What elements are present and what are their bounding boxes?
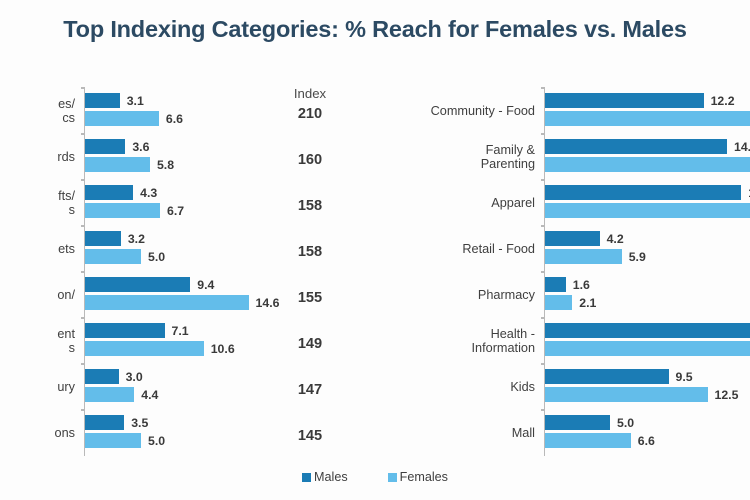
bar-female bbox=[85, 295, 249, 310]
category-label: es/ cs bbox=[0, 97, 84, 125]
chart-row: ent s7.110.6 bbox=[0, 318, 248, 364]
chart-row: Mall5.06.6 bbox=[382, 410, 750, 456]
bar-value-male: 1.6 bbox=[573, 278, 590, 292]
category-label: Mall bbox=[382, 426, 544, 440]
bar-female bbox=[545, 249, 622, 264]
index-value: 158 bbox=[268, 244, 352, 260]
bar-female bbox=[545, 433, 631, 448]
category-label: rds bbox=[0, 150, 84, 164]
bar-group-male: 9.4 bbox=[85, 277, 214, 292]
bar-male bbox=[545, 139, 727, 154]
bar-value-male: 9.4 bbox=[197, 278, 214, 292]
bar-group-male: 5.0 bbox=[545, 415, 634, 430]
axis-tick bbox=[81, 363, 85, 365]
bar-group-male: 9.5 bbox=[545, 369, 693, 384]
index-value: 145 bbox=[268, 428, 352, 444]
row-plot-area: 3.25.0 bbox=[84, 226, 248, 272]
bar-value-male: 3.5 bbox=[131, 416, 148, 430]
axis-tick bbox=[81, 87, 85, 89]
row-plot-area: 12.217.7 bbox=[544, 88, 750, 134]
bar-group-female: 2 bbox=[545, 157, 750, 172]
legend-item-males: Males bbox=[302, 470, 348, 484]
category-label: Pharmacy bbox=[382, 288, 544, 302]
bar-female bbox=[85, 433, 141, 448]
bar-value-female: 5.9 bbox=[629, 250, 646, 264]
bar-value-female: 5.8 bbox=[157, 158, 174, 172]
row-plot-area: 3.55.0 bbox=[84, 410, 248, 456]
bar-female bbox=[85, 111, 159, 126]
bar-male bbox=[545, 369, 669, 384]
bar-group-male: 4.2 bbox=[545, 231, 624, 246]
index-column: Index 210160158158155149147145 bbox=[268, 88, 352, 456]
bar-value-female: 5.0 bbox=[148, 434, 165, 448]
row-plot-area: 4.25.9 bbox=[544, 226, 750, 272]
axis-tick bbox=[541, 409, 545, 411]
bar-group-female: 5.0 bbox=[85, 433, 165, 448]
bar-group-male: 3.1 bbox=[85, 93, 144, 108]
bar-male bbox=[85, 93, 120, 108]
row-plot-area: 14.02 bbox=[544, 134, 750, 180]
axis-tick bbox=[541, 363, 545, 365]
category-label: ury bbox=[0, 380, 84, 394]
bar-group-female: 17.7 bbox=[545, 111, 750, 126]
axis-tick bbox=[81, 271, 85, 273]
row-plot-area: 3.65.8 bbox=[84, 134, 248, 180]
category-label: Health - Information bbox=[382, 327, 544, 355]
chart-row: Pharmacy1.62.1 bbox=[382, 272, 750, 318]
bar-male bbox=[85, 369, 119, 384]
bar-female bbox=[545, 387, 708, 402]
bar-value-male: 3.6 bbox=[132, 140, 149, 154]
chart-row: es/ cs3.16.6 bbox=[0, 88, 248, 134]
bar-female bbox=[545, 157, 750, 172]
legend-swatch-females bbox=[388, 473, 397, 482]
category-label: Family & Parenting bbox=[382, 143, 544, 171]
bar-female bbox=[85, 203, 160, 218]
row-plot-area: 4.36.7 bbox=[84, 180, 248, 226]
bar-value-male: 5.0 bbox=[617, 416, 634, 430]
axis-tick bbox=[541, 87, 545, 89]
category-label: fts/ s bbox=[0, 189, 84, 217]
legend-item-females: Females bbox=[388, 470, 448, 484]
bar-female bbox=[85, 387, 134, 402]
bar-male bbox=[85, 415, 124, 430]
row-plot-area: 5.06.6 bbox=[544, 410, 750, 456]
chart-row: Apparel15.1 bbox=[382, 180, 750, 226]
category-label: on/ bbox=[0, 288, 84, 302]
bar-group-female bbox=[545, 203, 750, 218]
category-label: Community - Food bbox=[382, 104, 544, 118]
bar-group-female: 4.4 bbox=[85, 387, 158, 402]
bar-value-female: 2.1 bbox=[579, 296, 596, 310]
bar-male bbox=[545, 231, 600, 246]
bar-male bbox=[545, 415, 610, 430]
row-plot-area: 3.04.4 bbox=[84, 364, 248, 410]
bar-female bbox=[85, 249, 141, 264]
chart-row: ets3.25.0 bbox=[0, 226, 248, 272]
bar-male bbox=[85, 323, 165, 338]
bar-value-male: 7.1 bbox=[172, 324, 189, 338]
axis-tick bbox=[541, 225, 545, 227]
axis-tick bbox=[81, 225, 85, 227]
bar-value-male: 12.2 bbox=[711, 94, 735, 108]
axis-tick bbox=[541, 271, 545, 273]
bar-group-male: 3.2 bbox=[85, 231, 145, 246]
bar-group-male: 14.0 bbox=[545, 139, 750, 154]
legend-label-females: Females bbox=[400, 470, 448, 484]
category-label: ent s bbox=[0, 327, 84, 355]
bar-group-male: 12.2 bbox=[545, 93, 735, 108]
chart-row: Community - Food12.217.7 bbox=[382, 88, 750, 134]
axis-tick bbox=[81, 179, 85, 181]
bar-value-male: 9.5 bbox=[676, 370, 693, 384]
bar-group-female bbox=[545, 341, 750, 356]
bar-female bbox=[545, 111, 750, 126]
bar-female bbox=[85, 157, 150, 172]
axis-tick bbox=[541, 317, 545, 319]
bar-group-female: 6.7 bbox=[85, 203, 184, 218]
chart-row: rds3.65.8 bbox=[0, 134, 248, 180]
bar-value-female: 5.0 bbox=[148, 250, 165, 264]
bar-value-male: 3.0 bbox=[126, 370, 143, 384]
bar-female bbox=[545, 341, 750, 356]
chart-row: fts/ s4.36.7 bbox=[0, 180, 248, 226]
index-value: 210 bbox=[268, 106, 352, 122]
row-plot-area: 17.4 bbox=[544, 318, 750, 364]
bar-female bbox=[85, 341, 204, 356]
category-label: Kids bbox=[382, 380, 544, 394]
left-chart-panel: es/ cs3.16.6rds3.65.8fts/ s4.36.7ets3.25… bbox=[0, 88, 248, 456]
bar-group-male: 3.5 bbox=[85, 415, 148, 430]
bar-value-female: 6.6 bbox=[638, 434, 655, 448]
bar-value-female: 6.6 bbox=[166, 112, 183, 126]
chart-row: ons3.55.0 bbox=[0, 410, 248, 456]
bar-value-male: 14.0 bbox=[734, 140, 750, 154]
bar-value-female: 4.4 bbox=[141, 388, 158, 402]
index-value: 149 bbox=[268, 336, 352, 352]
index-value: 147 bbox=[268, 382, 352, 398]
bar-male bbox=[545, 277, 566, 292]
bar-male bbox=[85, 139, 125, 154]
legend-swatch-males bbox=[302, 473, 311, 482]
axis-tick bbox=[541, 179, 545, 181]
bar-group-female: 6.6 bbox=[545, 433, 655, 448]
bar-value-female: 12.5 bbox=[715, 388, 739, 402]
bar-group-male: 7.1 bbox=[85, 323, 189, 338]
category-label: Retail - Food bbox=[382, 242, 544, 256]
bar-group-female: 12.5 bbox=[545, 387, 738, 402]
row-plot-area: 3.16.6 bbox=[84, 88, 248, 134]
right-chart-panel: Community - Food12.217.7Family & Parenti… bbox=[382, 88, 750, 456]
axis-tick bbox=[81, 133, 85, 135]
bar-group-female: 2.1 bbox=[545, 295, 596, 310]
bar-value-male: 4.2 bbox=[607, 232, 624, 246]
row-plot-area: 9.414.6 bbox=[84, 272, 248, 318]
index-value: 155 bbox=[268, 290, 352, 306]
bar-male bbox=[85, 231, 121, 246]
bar-value-male: 3.2 bbox=[128, 232, 145, 246]
bar-group-male: 4.3 bbox=[85, 185, 157, 200]
bar-group-female: 5.8 bbox=[85, 157, 174, 172]
left-chart-rows: es/ cs3.16.6rds3.65.8fts/ s4.36.7ets3.25… bbox=[0, 88, 248, 456]
bar-group-female: 6.6 bbox=[85, 111, 183, 126]
axis-tick bbox=[81, 317, 85, 319]
row-plot-area: 7.110.6 bbox=[84, 318, 248, 364]
bar-male bbox=[85, 277, 190, 292]
bar-value-female: 6.7 bbox=[167, 204, 184, 218]
bar-group-male: 3.0 bbox=[85, 369, 143, 384]
bar-value-male: 3.1 bbox=[127, 94, 144, 108]
legend-label-males: Males bbox=[314, 470, 348, 484]
bar-group-female: 5.9 bbox=[545, 249, 646, 264]
row-plot-area: 1.62.1 bbox=[544, 272, 750, 318]
chart-legend: Males Females bbox=[0, 470, 750, 484]
axis-tick bbox=[81, 409, 85, 411]
axis-tick bbox=[541, 133, 545, 135]
chart-row: Retail - Food4.25.9 bbox=[382, 226, 750, 272]
bar-female bbox=[545, 295, 572, 310]
bar-value-female: 10.6 bbox=[211, 342, 235, 356]
bar-group-male: 3.6 bbox=[85, 139, 149, 154]
bar-group-female: 10.6 bbox=[85, 341, 235, 356]
chart-row: Kids9.512.5 bbox=[382, 364, 750, 410]
row-plot-area: 15.1 bbox=[544, 180, 750, 226]
right-chart-rows: Community - Food12.217.7Family & Parenti… bbox=[382, 88, 750, 456]
bar-male bbox=[545, 93, 704, 108]
chart-row: ury3.04.4 bbox=[0, 364, 248, 410]
bar-group-female: 14.6 bbox=[85, 295, 279, 310]
bar-group-male: 17.4 bbox=[545, 323, 750, 338]
index-value: 158 bbox=[268, 198, 352, 214]
chart-row: on/9.414.6 bbox=[0, 272, 248, 318]
chart-row: Family & Parenting14.02 bbox=[382, 134, 750, 180]
bar-group-male: 1.6 bbox=[545, 277, 590, 292]
bar-male bbox=[545, 323, 750, 338]
chart-canvas: Top Indexing Categories: % Reach for Fem… bbox=[0, 0, 750, 500]
category-label: ets bbox=[0, 242, 84, 256]
bar-group-male: 15.1 bbox=[545, 185, 750, 200]
category-label: ons bbox=[0, 426, 84, 440]
bar-male bbox=[545, 185, 741, 200]
category-label: Apparel bbox=[382, 196, 544, 210]
chart-row: Health - Information17.4 bbox=[382, 318, 750, 364]
bar-male bbox=[85, 185, 133, 200]
index-header-label: Index bbox=[268, 86, 352, 101]
index-value: 160 bbox=[268, 152, 352, 168]
bar-female bbox=[545, 203, 750, 218]
row-plot-area: 9.512.5 bbox=[544, 364, 750, 410]
bar-value-male: 4.3 bbox=[140, 186, 157, 200]
page-title: Top Indexing Categories: % Reach for Fem… bbox=[0, 16, 750, 43]
bar-group-female: 5.0 bbox=[85, 249, 165, 264]
